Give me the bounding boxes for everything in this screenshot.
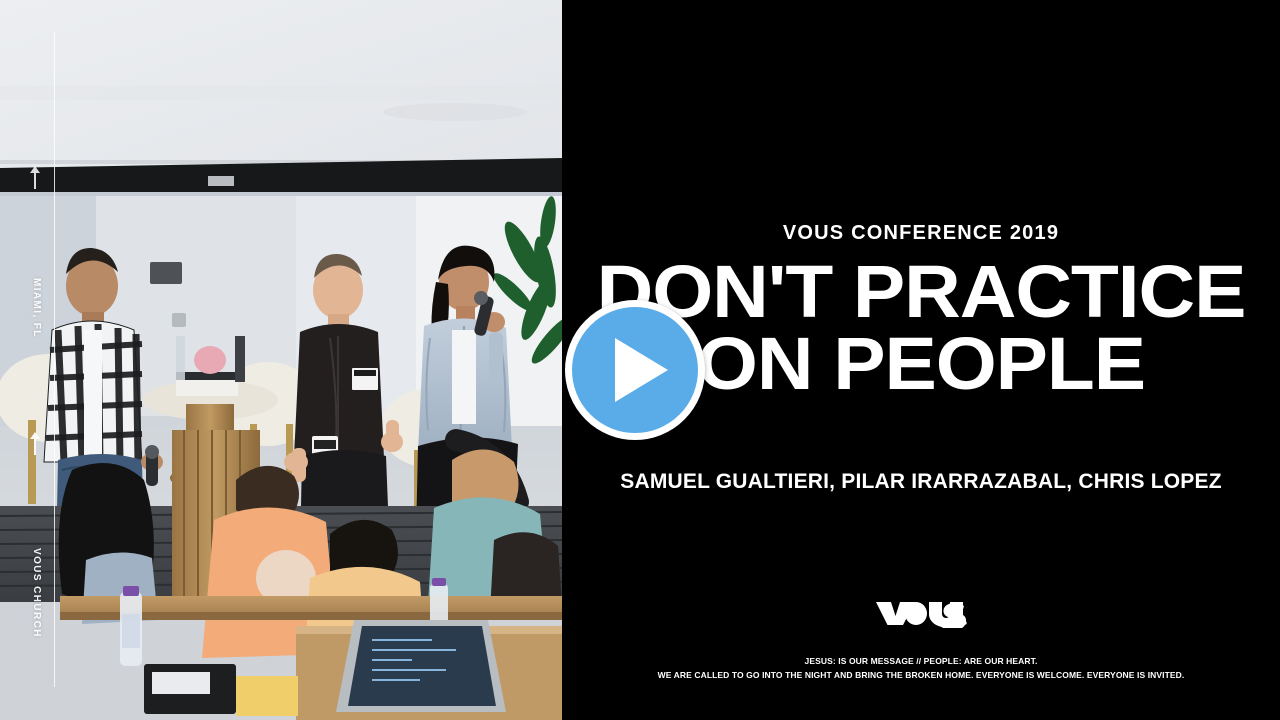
speaker-list: SAMUEL GUALTIERI, PILAR IRARRAZABAL, CHR…: [562, 470, 1280, 494]
photo-guide-line: [54, 32, 55, 687]
play-triangle-icon: [615, 338, 668, 402]
arrow-up-icon: [29, 430, 41, 456]
conference-photo: 2019 MIAMI, FL VOUS CHURCH: [0, 0, 562, 720]
play-button[interactable]: [565, 300, 705, 440]
photo-label-city: MIAMI, FL: [31, 278, 42, 338]
tagline-line-2: WE ARE CALLED TO GO INTO THE NIGHT AND B…: [562, 669, 1280, 683]
tagline-line-1: JESUS: IS OUR MESSAGE // PEOPLE: ARE OUR…: [562, 655, 1280, 669]
event-name: VOUS CONFERENCE 2019: [562, 222, 1280, 245]
registered-trademark-icon: [26, 640, 48, 662]
arrow-up-icon: [29, 164, 41, 190]
vous-logo: [562, 598, 1280, 628]
photo-label-church: VOUS CHURCH: [31, 548, 42, 638]
video-player[interactable]: 2019 MIAMI, FL VOUS CHURCH VOUS CONFEREN…: [0, 0, 1280, 720]
photo-label-year: 2019: [33, 34, 42, 57]
church-tagline: JESUS: IS OUR MESSAGE // PEOPLE: ARE OUR…: [562, 655, 1280, 682]
